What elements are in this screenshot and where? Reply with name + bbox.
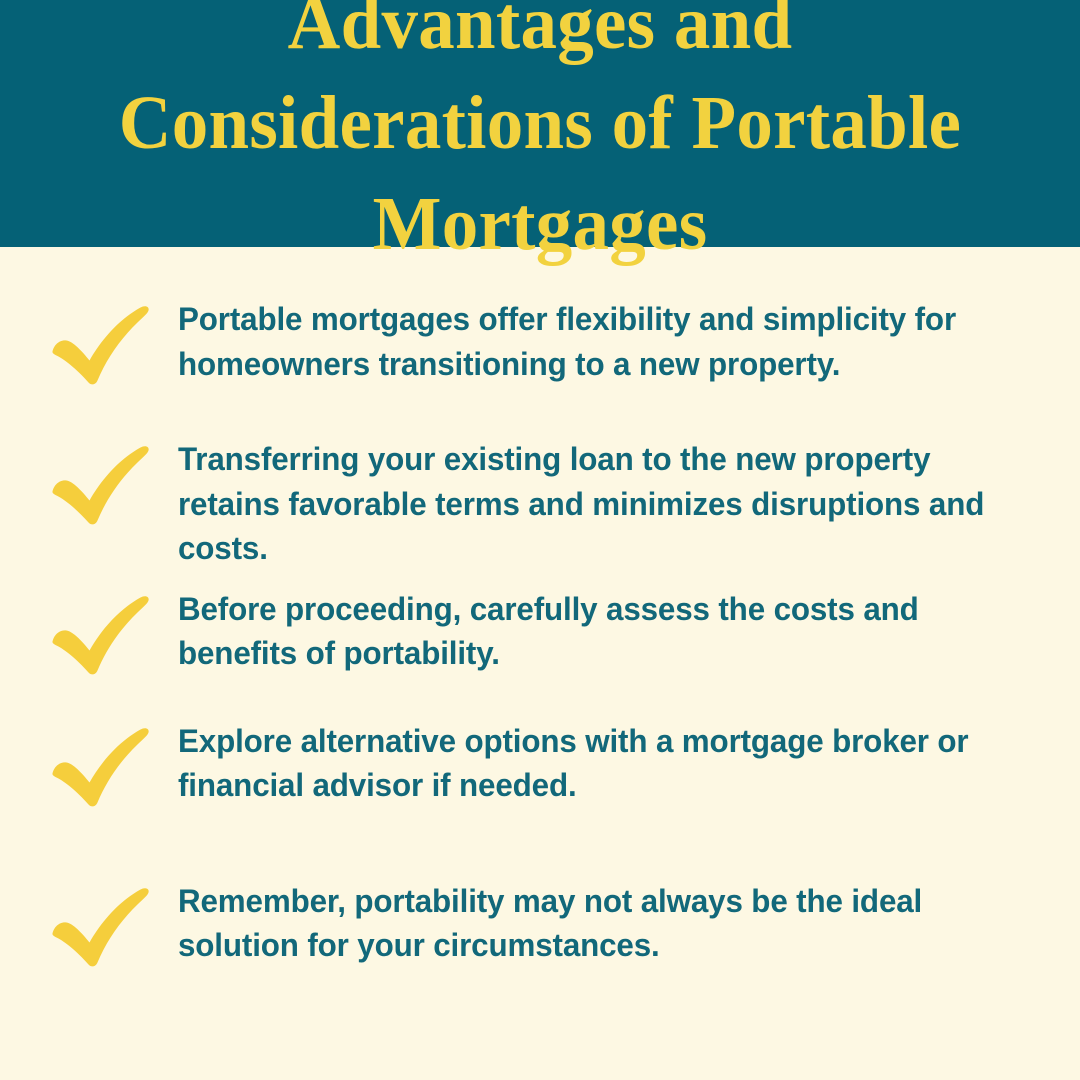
check-icon (48, 721, 152, 809)
list-item: Before proceeding, carefully assess the … (40, 583, 1018, 677)
check-icon (48, 439, 152, 527)
check-icon-cell (40, 583, 178, 677)
header-banner: Advantages and Considerations of Portabl… (0, 0, 1080, 247)
list-item: Portable mortgages offer flexibility and… (40, 293, 1018, 387)
infographic-poster: Advantages and Considerations of Portabl… (0, 0, 1080, 1080)
list-item-text: Remember, portability may not always be … (178, 875, 989, 968)
check-icon (48, 881, 152, 969)
benefits-list: Portable mortgages offer flexibility and… (0, 247, 1080, 1080)
check-icon-cell (40, 293, 178, 387)
check-icon-cell (40, 715, 178, 809)
check-icon (48, 299, 152, 387)
check-icon (48, 589, 152, 677)
list-item: Remember, portability may not always be … (40, 875, 1018, 969)
check-icon-cell (40, 433, 178, 527)
check-icon-cell (40, 875, 178, 969)
list-item-text: Explore alternative options with a mortg… (178, 715, 989, 808)
list-item-text: Before proceeding, carefully assess the … (178, 583, 989, 676)
list-item-text: Portable mortgages offer flexibility and… (178, 293, 989, 386)
list-item-text: Transferring your existing loan to the n… (178, 433, 989, 571)
list-item: Transferring your existing loan to the n… (40, 433, 1018, 571)
list-item: Explore alternative options with a mortg… (40, 715, 1018, 809)
page-title: Advantages and Considerations of Portabl… (55, 0, 1025, 274)
